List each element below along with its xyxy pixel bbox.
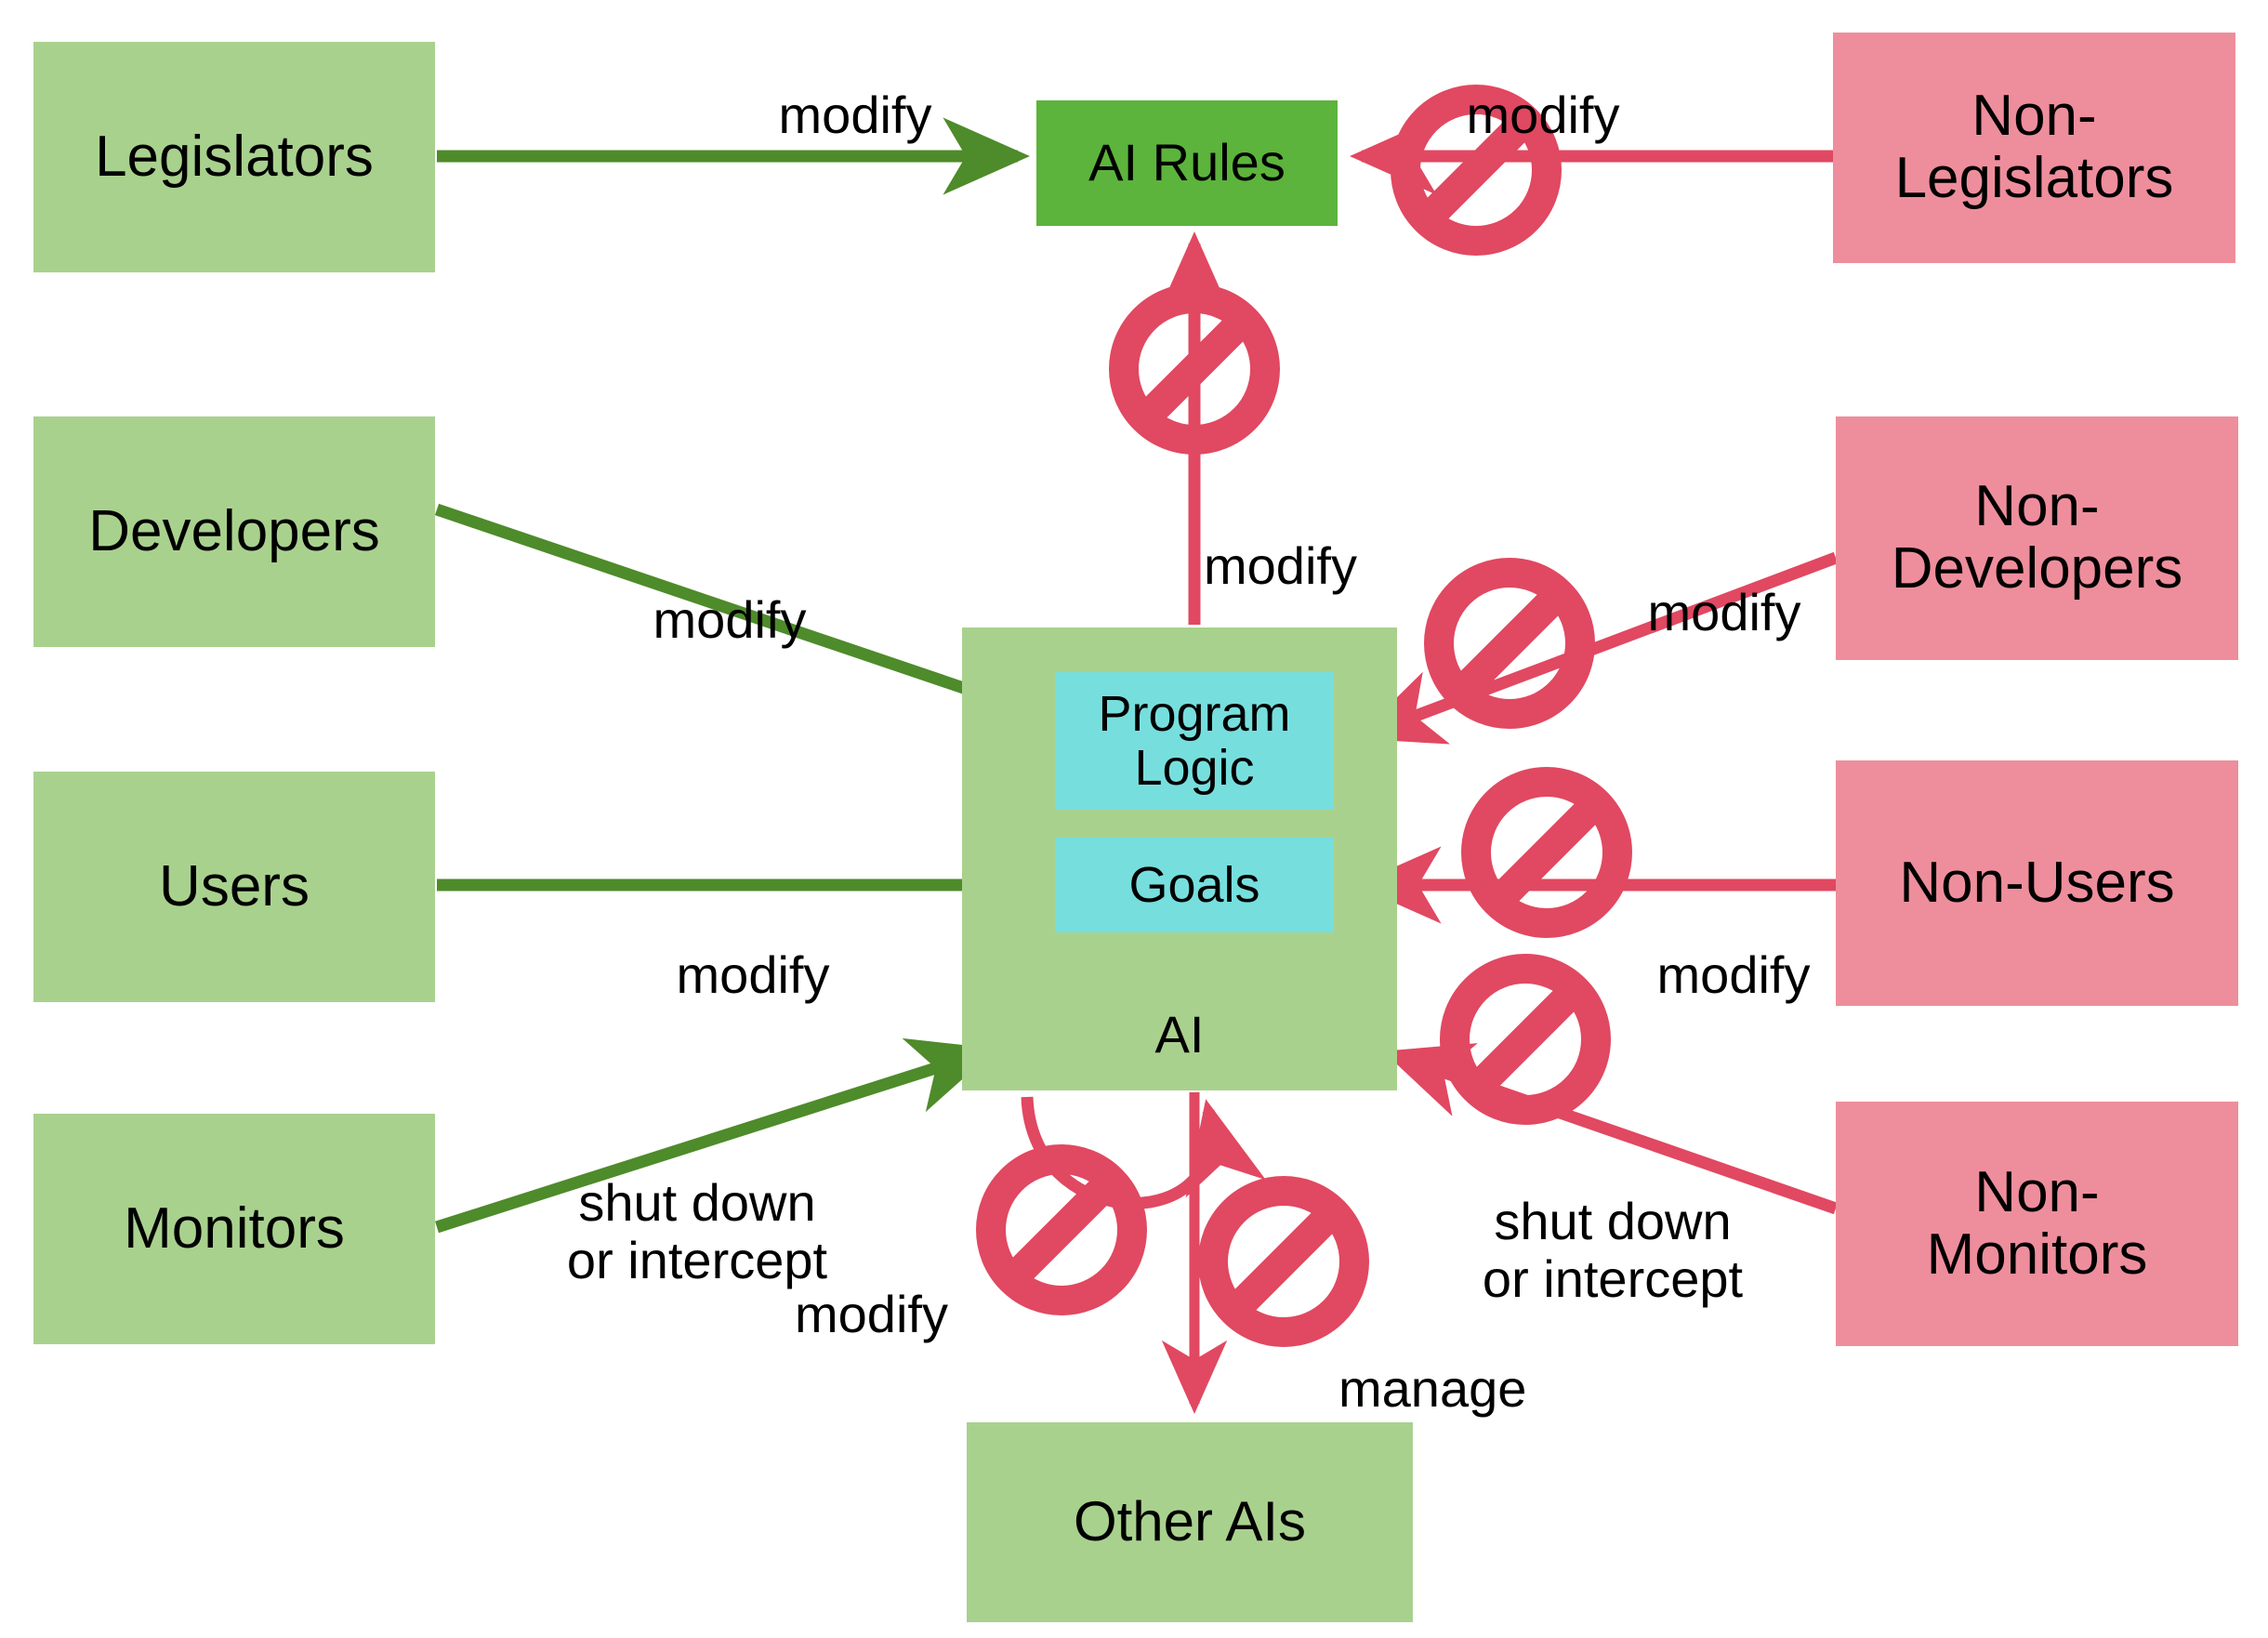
node-monitors[interactable]: Monitors <box>33 1114 435 1344</box>
edge-label-text: modify <box>677 945 830 1004</box>
edge-label-modify-non-users: modify <box>1622 888 1845 1004</box>
prohibition-icon <box>1124 298 1265 440</box>
node-ai[interactable]: Program Logic Goals AI <box>962 627 1397 1090</box>
node-goals-label: Goals <box>1128 858 1259 912</box>
node-non-users-label: Non-Users <box>1899 852 2174 915</box>
node-ai-label-wrap: AI <box>962 951 1397 1063</box>
edge-label-modify-non-legislators: modify <box>1431 28 1655 144</box>
node-monitors-label: Monitors <box>124 1198 345 1261</box>
prohibition-icon <box>1476 782 1617 923</box>
prohibition-icon <box>991 1159 1132 1301</box>
node-users-label: Users <box>159 856 310 918</box>
node-ai-label: AI <box>1155 1005 1205 1063</box>
node-ai-rules-label: AI Rules <box>1088 135 1286 191</box>
node-other-ais-label: Other AIs <box>1074 1492 1306 1552</box>
edge-label-text: modify <box>1657 945 1811 1004</box>
node-goals[interactable]: Goals <box>1055 838 1334 932</box>
node-non-users[interactable]: Non-Users <box>1836 760 2238 1006</box>
edge-label-shutdown-non-monitors: shut down or intercept <box>1445 1134 1780 1309</box>
node-developers[interactable]: Developers <box>33 416 435 647</box>
edge-label-text: modify <box>795 1285 948 1343</box>
node-program-logic[interactable]: Program Logic <box>1055 672 1334 810</box>
node-users[interactable]: Users <box>33 772 435 1002</box>
node-non-monitors[interactable]: Non- Monitors <box>1836 1102 2238 1346</box>
node-developers-label: Developers <box>88 501 380 563</box>
node-non-legislators[interactable]: Non- Legislators <box>1833 33 2235 263</box>
edge-label-text: manage <box>1338 1359 1526 1418</box>
node-non-legislators-label: Non- Legislators <box>1895 86 2174 210</box>
node-non-developers[interactable]: Non- Developers <box>1836 416 2238 660</box>
edge-label-modify-users: modify <box>641 888 864 1004</box>
edge-label-manage-other-ais: manage <box>1338 1301 1571 1418</box>
prohibition-icon <box>1439 573 1580 714</box>
edge-label-text: shut down or intercept <box>567 1173 827 1290</box>
edge-label-text: modify <box>779 86 932 144</box>
node-ai-rules[interactable]: AI Rules <box>1036 100 1338 226</box>
edge-label-text: modify <box>1467 86 1620 144</box>
edge-label-text: modify <box>653 590 807 649</box>
diagram-canvas: Legislators Developers Users Monitors No… <box>0 0 2268 1638</box>
edge-label-text: shut down or intercept <box>1483 1192 1743 1309</box>
node-legislators-label: Legislators <box>95 126 374 189</box>
prohibition-icon <box>1455 969 1596 1110</box>
prohibition-icon <box>1213 1191 1354 1332</box>
edge-ai-self-modify <box>1027 1097 1211 1203</box>
node-non-monitors-label: Non- Monitors <box>1927 1162 2148 1287</box>
node-legislators[interactable]: Legislators <box>33 42 435 272</box>
edge-label-modify-ai-to-rules: modify <box>1204 479 1427 595</box>
edge-label-modify-developers: modify <box>618 533 841 649</box>
edge-label-modify-legislators: modify <box>753 28 957 144</box>
edge-label-modify-self: modify <box>795 1227 999 1343</box>
node-program-logic-label: Program Logic <box>1098 687 1290 796</box>
edge-label-text: modify <box>1204 536 1357 595</box>
edge-label-modify-non-developers: modify <box>1613 525 1836 641</box>
node-other-ais[interactable]: Other AIs <box>967 1422 1413 1622</box>
node-non-developers-label: Non- Developers <box>1892 476 2183 601</box>
edge-label-text: modify <box>1648 583 1801 641</box>
